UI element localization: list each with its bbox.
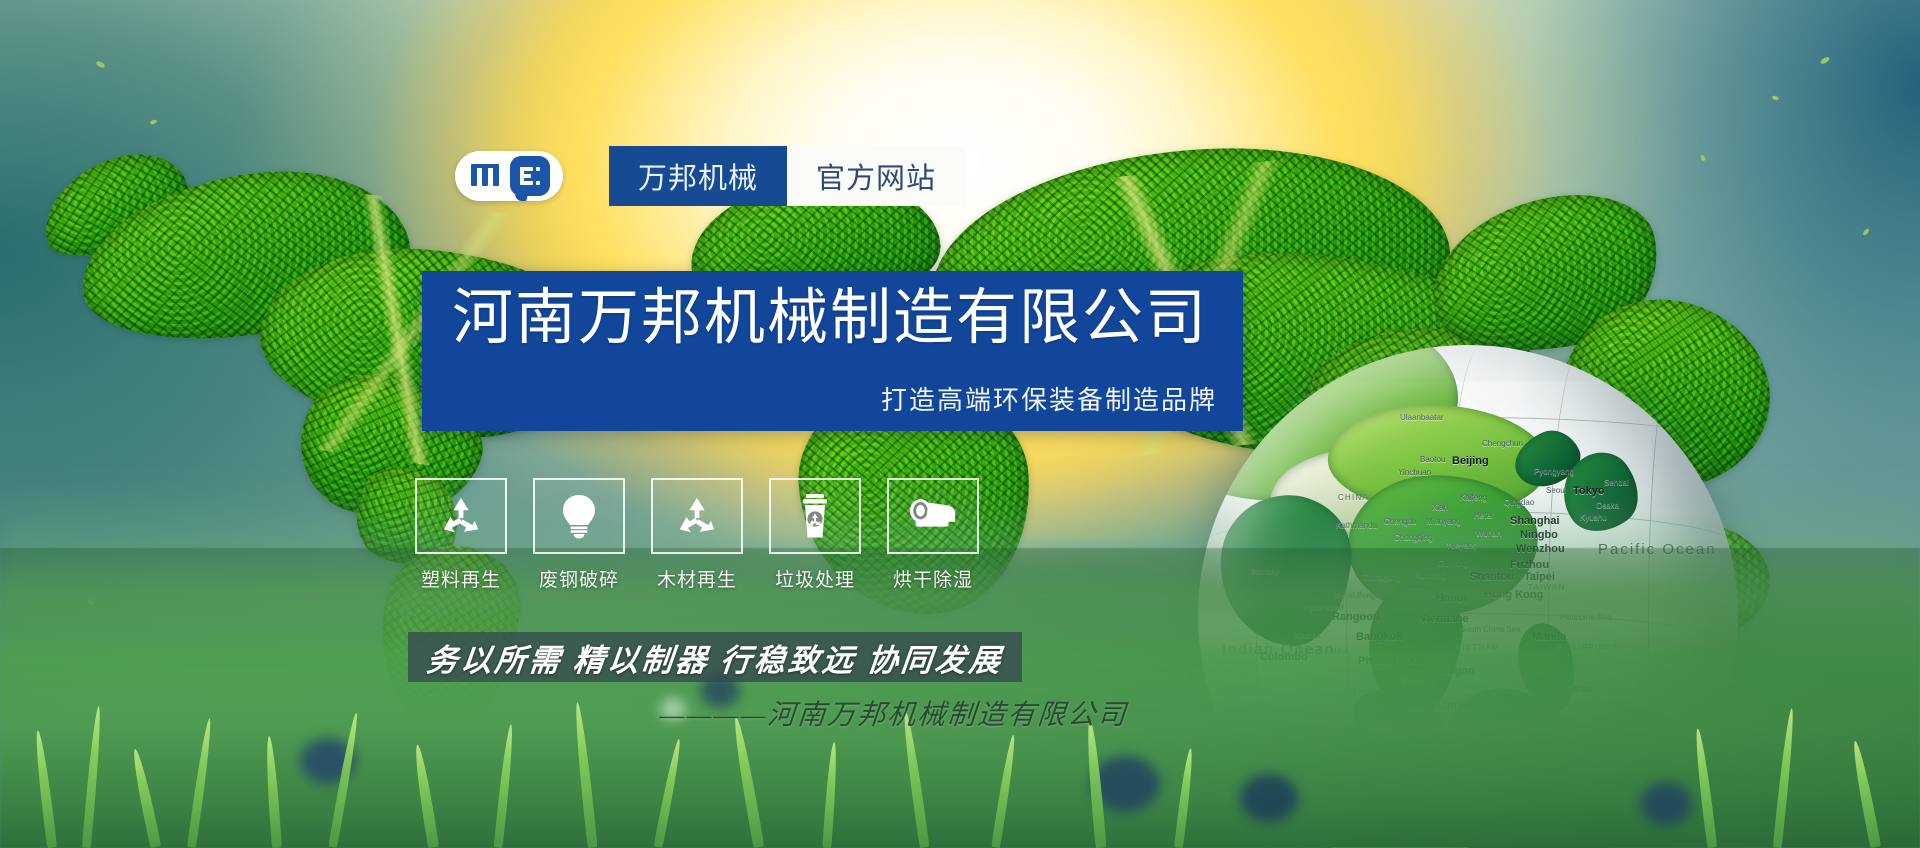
service-icon-box[interactable]: [887, 478, 979, 554]
recycle-icon: [438, 495, 484, 537]
page-title: 河南万邦机械制造有限公司: [452, 285, 1208, 351]
globe-city-label: Ulaanbaatar: [1400, 413, 1444, 422]
tab-official-site[interactable]: 官方网站: [787, 146, 965, 206]
hero-banner: UlaanbaatarBeijingBaotouYinchuanChengchu…: [0, 0, 1920, 848]
globe-city-label: Chengchun: [1482, 439, 1523, 448]
service-label: 塑料再生: [421, 565, 501, 592]
dryer-machine-icon: [907, 496, 959, 536]
service-item-drying-dehumidifying[interactable]: 烘干除湿: [889, 478, 977, 592]
service-icon-row: 塑料再生 废钢破碎 木材再生: [417, 478, 977, 592]
service-item-wood-recycling[interactable]: 木材再生: [653, 478, 741, 592]
service-label: 烘干除湿: [893, 565, 973, 592]
globe-city-label: Yinchuan: [1398, 468, 1431, 477]
service-item-plastic-recycling[interactable]: 塑料再生: [417, 478, 505, 592]
service-label: 木材再生: [657, 565, 737, 592]
page-subtitle: 打造高端环保装备制造品牌: [881, 380, 1217, 417]
globe-city-label: Beijing: [1452, 455, 1489, 467]
service-item-waste-treatment[interactable]: 垃圾处理: [771, 478, 859, 592]
company-title-banner: 河南万邦机械制造有限公司 打造高端环保装备制造品牌: [422, 271, 1243, 431]
brand-bar: 万邦机械 官方网站: [455, 145, 965, 207]
service-label: 垃圾处理: [775, 565, 855, 592]
slogan-text: 务以所需 精以制器 行稳致远 协同发展: [425, 635, 1006, 680]
service-icon-box[interactable]: [533, 478, 625, 554]
company-logo[interactable]: [455, 151, 563, 201]
globe-city-label: Sendai: [1604, 478, 1629, 487]
globe-city-label: Pyongyang: [1534, 467, 1574, 476]
logo-b-icon: [510, 156, 550, 196]
service-icon-box[interactable]: [651, 478, 743, 554]
slogan-signature: ————河南万邦机械制造有限公司: [658, 693, 1129, 733]
service-label: 废钢破碎: [539, 565, 619, 592]
header-tabs: 万邦机械 官方网站: [609, 146, 965, 206]
lightbulb-icon: [560, 493, 598, 539]
globe-city-label: Baotou: [1420, 455, 1445, 464]
service-icon-box[interactable]: [769, 478, 861, 554]
slogan-band: 务以所需 精以制器 行稳致远 协同发展: [408, 632, 1022, 682]
service-icon-box[interactable]: [415, 478, 507, 554]
logo-b-glyph: [519, 165, 541, 187]
tab-company-name[interactable]: 万邦机械: [609, 146, 787, 206]
service-item-scrap-steel-crushing[interactable]: 废钢破碎: [535, 478, 623, 592]
recycle-icon: [674, 495, 720, 537]
logo-w-icon: [469, 161, 503, 191]
trash-bin-icon: [798, 492, 832, 540]
